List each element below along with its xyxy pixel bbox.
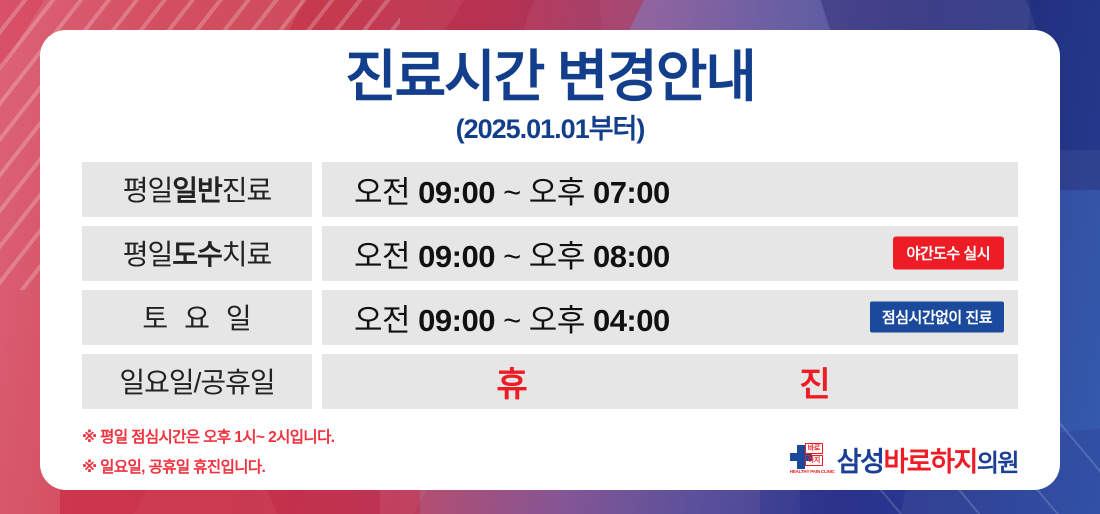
clinic-name-part2: 바로하지 <box>883 447 976 477</box>
logo-mark-line2: 하지 <box>805 455 823 466</box>
row-time-weekday-manual: 오전 09:00 ~ 오후 08:00 야간도수 실시 <box>322 226 1018 281</box>
time-prefix: 오전 <box>354 303 418 338</box>
clinic-name-part1: 삼성 <box>837 447 884 477</box>
row-label-sunday-holiday: 일요일/공휴일 <box>82 354 312 409</box>
note-lunch-break: ※ 평일 점심시간은 오후 1시~ 2시입니다. <box>82 423 334 453</box>
label-plain: 평일 <box>123 233 173 273</box>
row-time-saturday: 오전 09:00 ~ 오후 04:00 점심시간없이 진료 <box>322 290 1018 345</box>
time-start: 09:00 <box>418 175 495 210</box>
table-row: 토요일 오전 09:00 ~ 오후 04:00 점심시간없이 진료 <box>82 290 1018 345</box>
time-prefix: 오전 <box>354 175 418 210</box>
time-separator: ~ <box>495 175 529 210</box>
schedule-table: 평일 일반진료 오전 09:00 ~ 오후 07:00 평일 도수치료 오전 0… <box>82 162 1018 409</box>
clinic-logo: 바로 하지 HEALTHY PAIN CLINIC 삼성바로하지의원 <box>790 439 1018 483</box>
time-end: 07:00 <box>593 175 670 210</box>
table-row: 평일 일반진료 오전 09:00 ~ 오후 07:00 <box>82 162 1018 217</box>
time-text: 오전 09:00 ~ 오후 07:00 <box>354 167 670 212</box>
closed-char-left: 휴 <box>496 357 526 406</box>
label-emphasis: 일반 <box>172 169 222 209</box>
page-title: 진료시간 변경안내 <box>40 46 1060 109</box>
medical-cross-icon: 바로 하지 HEALTHY PAIN CLINIC <box>790 439 830 479</box>
time-mid: 오후 <box>529 303 593 338</box>
page-subtitle: (2025.01.01부터) <box>40 107 1060 146</box>
note-sunday-closed: ※ 일요일, 공휴일 휴진입니다. <box>82 453 334 483</box>
clinic-name: 삼성바로하지의원 <box>837 440 1018 479</box>
row-label-saturday: 토요일 <box>82 290 312 345</box>
label-plain: 평일 <box>123 169 173 209</box>
time-text: 오전 09:00 ~ 오후 08:00 <box>354 231 670 276</box>
time-separator: ~ <box>495 303 529 338</box>
footer: ※ 평일 점심시간은 오후 1시~ 2시입니다. ※ 일요일, 공휴일 휴진입니… <box>82 423 1018 483</box>
row-label-weekday-general: 평일 일반진료 <box>82 162 312 217</box>
table-row: 일요일/공휴일 휴 진 <box>82 354 1018 409</box>
notes-list: ※ 평일 점심시간은 오후 1시~ 2시입니다. ※ 일요일, 공휴일 휴진입니… <box>82 423 334 483</box>
time-text: 오전 09:00 ~ 오후 04:00 <box>354 295 670 340</box>
time-prefix: 오전 <box>354 239 418 274</box>
title-block: 진료시간 변경안내 (2025.01.01부터) <box>40 30 1060 146</box>
closed-label-wrap: 휴 진 <box>322 357 1018 406</box>
status-badge-no-lunch-break: 점심시간없이 진료 <box>870 302 1004 333</box>
row-time-weekday-general: 오전 09:00 ~ 오후 07:00 <box>322 162 1018 217</box>
time-mid: 오후 <box>529 175 593 210</box>
time-separator: ~ <box>495 239 529 274</box>
label-emphasis: 도수 <box>172 233 222 273</box>
row-time-sunday-holiday: 휴 진 <box>322 354 1018 409</box>
status-badge-night-manual: 야간도수 실시 <box>893 237 1004 270</box>
label-tail: 진료 <box>222 169 272 209</box>
notice-card: 진료시간 변경안내 (2025.01.01부터) 평일 일반진료 오전 09:0… <box>40 30 1060 490</box>
logo-tagline: HEALTHY PAIN CLINIC <box>790 469 835 474</box>
label-tail: 치료 <box>222 233 272 273</box>
time-end: 04:00 <box>593 303 670 338</box>
time-end: 08:00 <box>593 239 670 274</box>
clinic-name-part3: 의원 <box>977 450 1018 477</box>
time-start: 09:00 <box>418 303 495 338</box>
logo-mark-line1: 바로 <box>805 443 823 454</box>
time-start: 09:00 <box>418 239 495 274</box>
row-label-weekday-manual: 평일 도수치료 <box>82 226 312 281</box>
table-row: 평일 도수치료 오전 09:00 ~ 오후 08:00 야간도수 실시 <box>82 226 1018 281</box>
closed-char-right: 진 <box>799 357 829 406</box>
time-mid: 오후 <box>529 239 593 274</box>
